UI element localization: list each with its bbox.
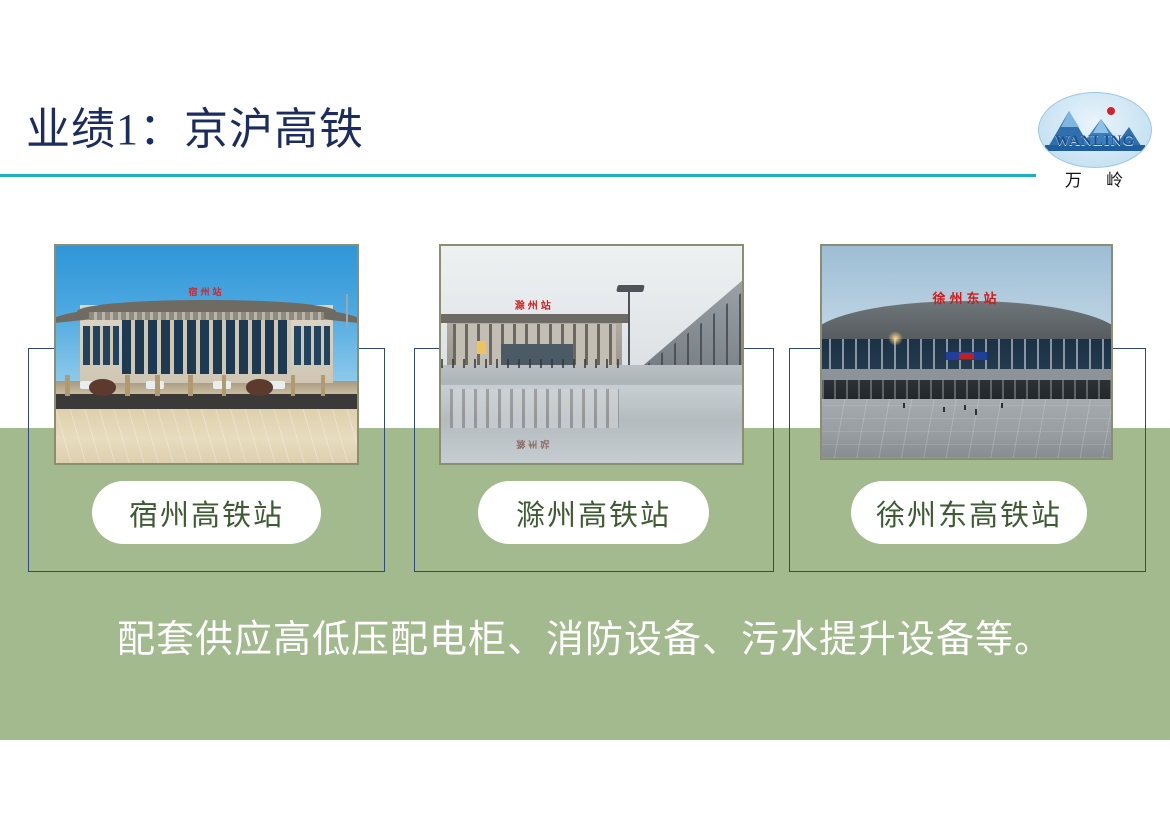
- underpass-columns: [822, 380, 1111, 399]
- station-name-sign: 徐州东站: [903, 291, 1030, 306]
- station-name-sign: 滁州站: [489, 300, 579, 313]
- presentation-slide: 业绩1：京沪高铁 WANLING 万 岭: [0, 0, 1170, 827]
- title-block: 业绩1：京沪高铁: [0, 100, 1040, 180]
- interior-light-glow: [888, 331, 902, 346]
- reflected-station-sign: 滁州站: [489, 437, 579, 450]
- bare-tree: [125, 375, 130, 396]
- plaza-paving-lines: [822, 399, 1111, 458]
- caption-pill-suzhou: 宿州高铁站: [92, 481, 321, 544]
- bare-tree: [155, 375, 160, 396]
- road-strip: [56, 394, 357, 409]
- suzhou-station-photo: 宿州站: [54, 244, 359, 465]
- caption-label: 滁州高铁站: [516, 492, 671, 534]
- pedestrian: [1001, 403, 1003, 408]
- roof-frieze: [89, 312, 324, 320]
- pedestrian: [964, 405, 966, 410]
- shrub-row: [56, 374, 357, 396]
- caption-label: 徐州东高铁站: [876, 492, 1062, 534]
- lamp-head: [616, 285, 644, 292]
- suzhou-photo-scene: 宿州站: [56, 246, 357, 463]
- paved-plaza: [56, 409, 357, 463]
- lamp-post: [628, 287, 630, 365]
- pedestrian: [943, 407, 945, 412]
- bare-tree: [222, 375, 227, 396]
- company-logo: WANLING 万 岭: [1036, 92, 1152, 188]
- logo-sun-icon: [1107, 107, 1115, 115]
- bare-tree: [65, 375, 70, 396]
- caption-pill-xuzhou-east: 徐州东高铁站: [851, 481, 1087, 544]
- main-glass-facade: [122, 318, 291, 374]
- bare-tree: [291, 375, 296, 396]
- page-title: 业绩1：京沪高铁: [26, 100, 364, 160]
- caption-label: 宿州高铁站: [129, 492, 284, 534]
- bare-tree: [188, 375, 193, 396]
- bottom-note-text: 配套供应高低压配电柜、消防设备、污水提升设备等。: [0, 608, 1170, 663]
- entrance-banner-accent: [959, 353, 973, 359]
- xuzhou-east-station-photo: 徐州东站: [820, 244, 1113, 460]
- station-canopy: [441, 314, 628, 323]
- xuzhou-photo-scene: 徐州东站: [822, 246, 1111, 458]
- mountain-logo-icon: [1039, 93, 1151, 167]
- caption-pill-chuzhou: 滁州高铁站: [478, 481, 709, 544]
- shrub: [246, 379, 273, 395]
- logo-oval-background: WANLING: [1038, 92, 1152, 168]
- shrub: [89, 379, 116, 395]
- station-name-sign: 宿州站: [164, 286, 248, 299]
- antenna-mast: [346, 294, 348, 329]
- pedestrians: [441, 359, 628, 368]
- pedestrian: [903, 403, 905, 408]
- left-glass-wall: [83, 326, 119, 365]
- lit-window: [477, 341, 486, 354]
- right-glass-wall: [294, 326, 330, 365]
- chuzhou-photo-scene: 滁州站 滁州站: [441, 246, 742, 463]
- pedestrian: [975, 409, 977, 414]
- logo-wordmark: WANLING: [1039, 133, 1151, 150]
- bare-tree: [321, 375, 326, 396]
- logo-chinese-name: 万 岭: [1036, 166, 1152, 191]
- title-underline-rule: [0, 174, 1036, 177]
- reflected-building: [450, 389, 619, 428]
- chuzhou-station-photo: 滁州站 滁州站: [439, 244, 744, 465]
